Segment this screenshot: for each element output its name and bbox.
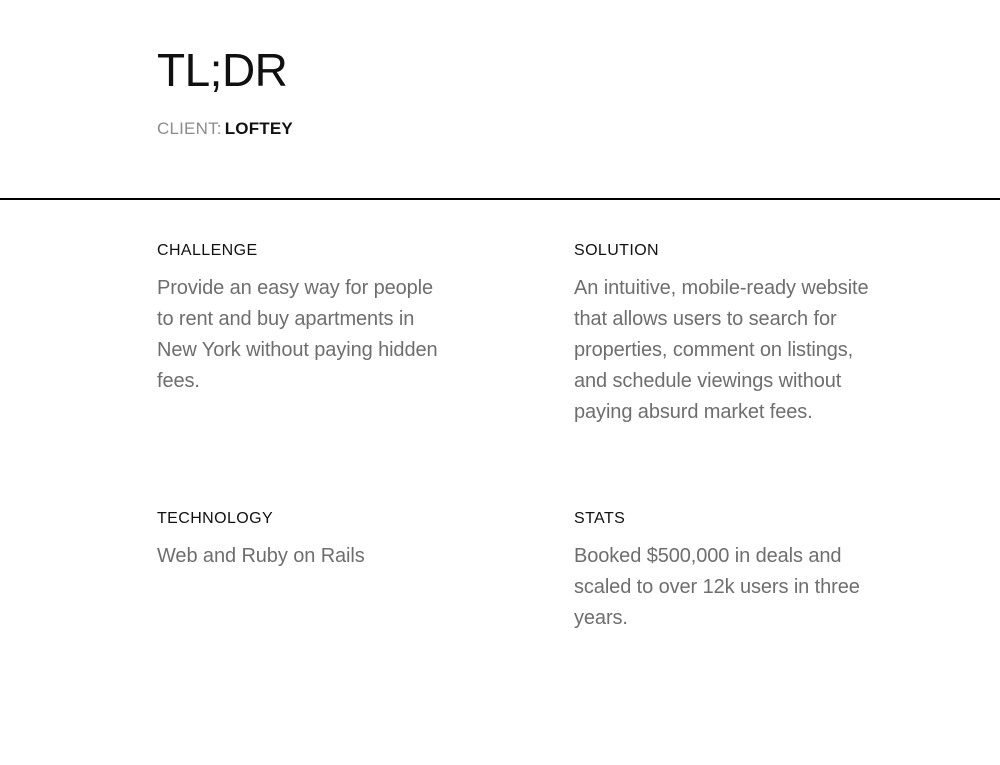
header-divider xyxy=(0,198,1000,200)
tldr-page: TL;DR CLIENT:LOFTEY CHALLENGE Provide an… xyxy=(0,0,1000,765)
section-heading-technology: TECHNOLOGY xyxy=(157,509,457,529)
section-stats: STATS Booked $500,000 in deals and scale… xyxy=(574,509,874,634)
client-label: CLIENT: xyxy=(157,119,222,138)
section-challenge: CHALLENGE Provide an easy way for people… xyxy=(157,241,457,509)
section-heading-solution: SOLUTION xyxy=(574,241,874,261)
client-name: LOFTEY xyxy=(225,119,293,138)
section-body-technology: Web and Ruby on Rails xyxy=(157,541,452,572)
section-body-challenge: Provide an easy way for people to rent a… xyxy=(157,273,452,397)
client-line: CLIENT:LOFTEY xyxy=(157,118,957,139)
section-body-solution: An intuitive, mobile-ready website that … xyxy=(574,273,869,428)
section-body-stats: Booked $500,000 in deals and scaled to o… xyxy=(574,541,869,634)
page-title: TL;DR xyxy=(157,44,957,96)
section-technology: TECHNOLOGY Web and Ruby on Rails xyxy=(157,509,457,634)
sections-grid: CHALLENGE Provide an easy way for people… xyxy=(157,241,917,634)
section-heading-stats: STATS xyxy=(574,509,874,529)
section-heading-challenge: CHALLENGE xyxy=(157,241,457,261)
section-solution: SOLUTION An intuitive, mobile-ready webs… xyxy=(574,241,874,509)
page-header: TL;DR CLIENT:LOFTEY xyxy=(157,44,957,139)
